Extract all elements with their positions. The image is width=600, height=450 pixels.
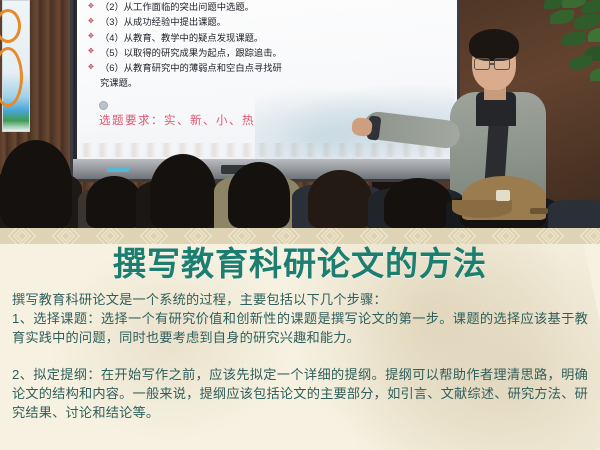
plant-leaf (570, 56, 592, 69)
audience-head (384, 178, 452, 228)
plant-leaf (590, 68, 600, 81)
glasses-icon (474, 58, 490, 70)
step-1-paragraph: 1、选择课题：选择一个有研究价值和创新性的课题是撰写论文的第一步。课题的选择应该… (12, 309, 588, 347)
poster-graphic-arc-2 (0, 47, 23, 107)
slide-bullet-4: ✥ （4）从教育、教学中的疑点发现课题。 (87, 31, 459, 46)
audience-head (150, 154, 216, 228)
slide-bullet-3-text: （3）从成功经验中提出课题。 (100, 17, 226, 27)
ornament-unit (0, 228, 44, 244)
intro-paragraph: 撰写教育科研论文是一个系统的过程，主要包括以下几个步骤： (12, 290, 588, 309)
cap-brim (452, 200, 512, 218)
slide-bullet-6: ✥ （6）从教育研究中的薄弱点和空白点寻找研 (87, 61, 459, 76)
ornament-unit (132, 228, 176, 244)
display-led-indicator (107, 167, 129, 172)
audience-head (86, 176, 142, 228)
ornament-unit (572, 228, 600, 244)
ornament-unit (220, 228, 264, 244)
slide-bullet-list: ✥ （1）从教育发展的方向寻找研究课题。 ✥ （2）从工作面临的突出问题中选题。… (87, 0, 459, 91)
plant-leaf (574, 14, 600, 29)
slide-bullet-2: ✥ （2）从工作面临的突出问题中选题。 (87, 0, 459, 15)
slide-bullet-3: ✥ （3）从成功经验中提出课题。 (87, 15, 459, 30)
slide-decorative-band (81, 143, 459, 157)
wall-poster (2, 0, 30, 132)
step-2-paragraph: 2、拟定提纲：在开始写作之前，应该先拟定一个详细的提纲。提纲可以帮助作者理清思路… (12, 365, 588, 422)
ornament-unit (308, 228, 352, 244)
audience-head (308, 170, 372, 228)
diamond-bullet-icon: ✥ (88, 49, 93, 54)
plant-leaf (544, 0, 564, 9)
ornament-unit (484, 228, 528, 244)
cap-logo (496, 190, 510, 201)
glasses-icon (494, 58, 510, 70)
audience-torso (548, 200, 600, 228)
plant-leaf (582, 0, 600, 13)
page-title: 撰写教育科研论文的方法 (12, 244, 588, 284)
ornament-unit (264, 228, 308, 244)
presenter-hand (351, 117, 373, 137)
interactive-display: ✥ （1）从教育发展的方向寻找研究课题。 ✥ （2）从工作面临的突出问题中选题。… (70, 0, 460, 182)
plant-leaf (588, 28, 600, 42)
ornament-unit (528, 228, 572, 244)
caption-card: 撰写教育科研论文的方法 撰写教育科研论文是一个系统的过程，主要包括以下几个步骤：… (0, 228, 600, 450)
presenter-hair (469, 29, 519, 61)
slide-bullet-5-text: （5）以取得的研究成果为起点，跟踪追击。 (100, 48, 282, 58)
diamond-bullet-icon: ✥ (88, 19, 93, 24)
slide-bullet-5: ✥ （5）以取得的研究成果为起点，跟踪追击。 (87, 46, 459, 61)
ornament-unit (352, 228, 396, 244)
slide-bullet-6-text: （6）从教育研究中的薄弱点和空白点寻找研 (100, 63, 282, 73)
ornament-unit (176, 228, 220, 244)
diamond-bullet-icon: ✥ (88, 34, 93, 39)
ornament-unit (396, 228, 440, 244)
ornament-unit (440, 228, 484, 244)
video-frame: ✥ （1）从教育发展的方向寻找研究课题。 ✥ （2）从工作面临的突出问题中选题。… (0, 0, 600, 450)
ornament-unit (44, 228, 88, 244)
slide-bullet-4-text: （4）从教育、教学中的疑点发现课题。 (100, 33, 263, 43)
diamond-bullet-icon: ✥ (88, 65, 93, 70)
decorative-border-strip (0, 228, 600, 244)
smiley-icon (99, 101, 108, 110)
poster-graphic-arc-1 (0, 9, 21, 43)
slide-highlight-text: 选题要求：实、新、小、热 (99, 112, 255, 128)
cap-strap (530, 208, 548, 214)
slide-bullet-6-continuation: 究课题。 (87, 76, 459, 91)
diamond-bullet-icon: ✥ (88, 4, 93, 9)
audience-head (0, 140, 72, 228)
glasses-bridge (490, 63, 495, 65)
ornament-unit (88, 228, 132, 244)
slide-bullet-2-text: （2）从工作面临的突出问题中选题。 (100, 2, 254, 12)
audience-head (228, 162, 290, 228)
classroom-photo: ✥ （1）从教育发展的方向寻找研究课题。 ✥ （2）从工作面临的突出问题中选题。… (0, 0, 600, 228)
